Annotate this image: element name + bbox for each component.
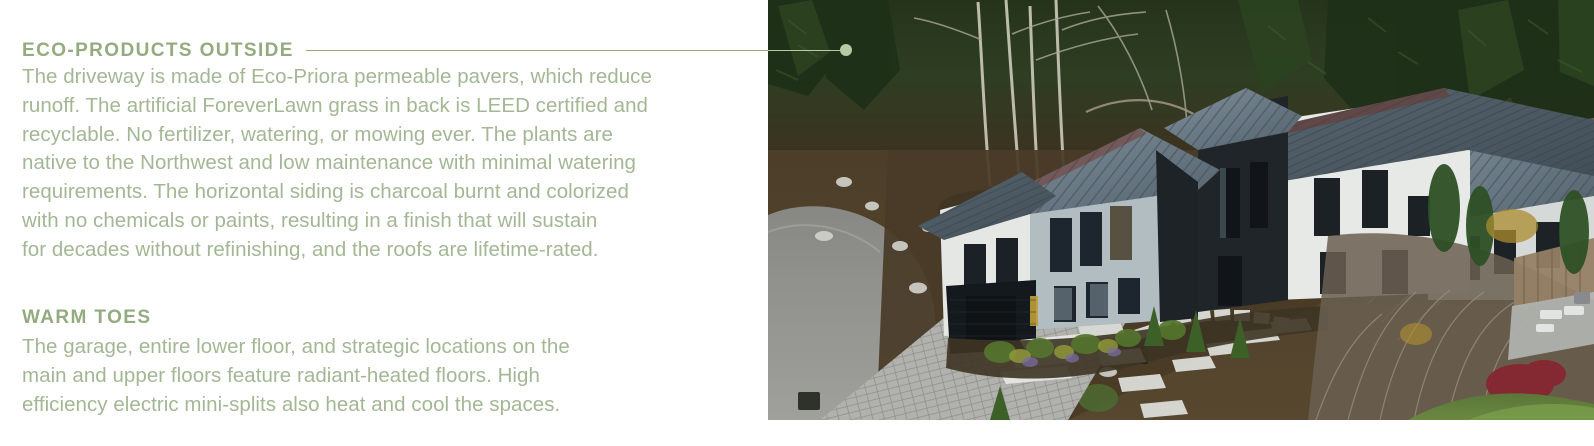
body-line: native to the Northwest and low maintena… bbox=[22, 149, 652, 178]
body-line: runoff. The artificial ForeverLawn grass… bbox=[22, 92, 652, 121]
body-line: The garage, entire lower floor, and stra… bbox=[22, 333, 570, 362]
section-heading-label: WARM TOES bbox=[22, 308, 151, 327]
body-line: The driveway is made of Eco-Priora perme… bbox=[22, 63, 652, 92]
body-line: requirements. The horizontal siding is c… bbox=[22, 178, 652, 207]
body-copy-eco-products-outside: The driveway is made of Eco-Priora perme… bbox=[22, 63, 652, 265]
section-heading-label: ECO-PRODUCTS OUTSIDE bbox=[22, 41, 294, 60]
text-panel: ECO-PRODUCTS OUTSIDE The driveway is mad… bbox=[0, 0, 768, 446]
body-line: efficiency electric mini-splits also hea… bbox=[22, 391, 570, 420]
body-line: with no chemicals or paints, resulting i… bbox=[22, 207, 652, 236]
aerial-house-exterior-photo bbox=[768, 0, 1594, 420]
section-heading-warm-toes: WARM TOES bbox=[22, 308, 151, 327]
section-heading-eco-products-outside: ECO-PRODUCTS OUTSIDE bbox=[22, 41, 822, 60]
body-line: main and upper floors feature radiant-he… bbox=[22, 362, 570, 391]
heading-rule-end-dot bbox=[840, 44, 852, 56]
heading-rule-over-photo bbox=[768, 50, 847, 51]
body-line: recyclable. No fertilizer, watering, or … bbox=[22, 121, 652, 150]
body-line: for decades without refinishing, and the… bbox=[22, 236, 652, 265]
body-copy-warm-toes: The garage, entire lower floor, and stra… bbox=[22, 333, 570, 419]
brochure-page: ECO-PRODUCTS OUTSIDE The driveway is mad… bbox=[0, 0, 1594, 446]
heading-rule-divider bbox=[306, 50, 822, 51]
